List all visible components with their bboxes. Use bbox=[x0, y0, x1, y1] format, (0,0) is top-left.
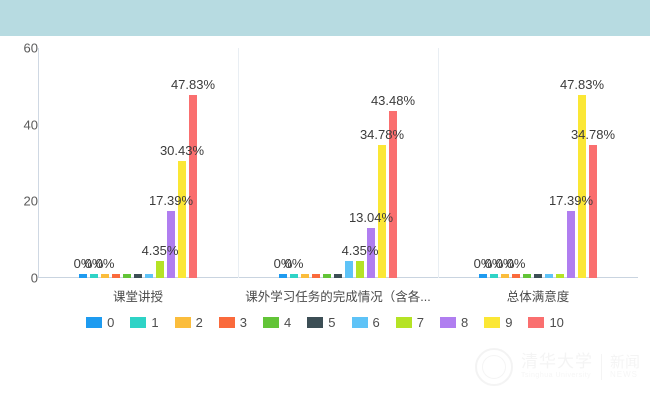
bar[interactable] bbox=[123, 274, 131, 278]
legend-label: 0 bbox=[107, 316, 114, 329]
bar[interactable] bbox=[156, 261, 164, 278]
legend-item[interactable]: 4 bbox=[263, 316, 291, 329]
y-axis-tick-label: 20 bbox=[0, 195, 38, 208]
watermark-university-en: Tsinghua University bbox=[521, 372, 593, 380]
watermark: 清华大学 Tsinghua University 新闻 NEWS bbox=[475, 348, 640, 386]
legend-label: 2 bbox=[196, 316, 203, 329]
legend-swatch-icon bbox=[219, 317, 235, 328]
bar[interactable] bbox=[112, 274, 120, 278]
bar[interactable] bbox=[301, 274, 309, 278]
bar[interactable] bbox=[578, 95, 586, 278]
x-axis-category-label: 总体满意度 bbox=[507, 286, 570, 305]
bar-value-label: 0% bbox=[285, 257, 304, 270]
legend-label: 8 bbox=[461, 316, 468, 329]
bar[interactable] bbox=[290, 274, 298, 278]
bar[interactable] bbox=[189, 95, 197, 278]
bar-value-label: 47.83% bbox=[560, 78, 604, 91]
watermark-news-cn: 新闻 bbox=[610, 355, 640, 371]
bar-group bbox=[279, 48, 397, 278]
legend-item[interactable]: 0 bbox=[86, 316, 114, 329]
bar[interactable] bbox=[312, 274, 320, 278]
legend-swatch-icon bbox=[130, 317, 146, 328]
legend-item[interactable]: 7 bbox=[396, 316, 424, 329]
tsinghua-seal-icon bbox=[475, 348, 513, 386]
legend-item[interactable]: 6 bbox=[352, 316, 380, 329]
legend-item[interactable]: 1 bbox=[130, 316, 158, 329]
legend-swatch-icon bbox=[396, 317, 412, 328]
legend-swatch-icon bbox=[528, 317, 544, 328]
y-axis-line bbox=[38, 48, 39, 278]
legend-swatch-icon bbox=[86, 317, 102, 328]
legend-label: 3 bbox=[240, 316, 247, 329]
bar-value-label: 34.78% bbox=[360, 128, 404, 141]
bar-value-label: 13.04% bbox=[349, 211, 393, 224]
legend-label: 7 bbox=[417, 316, 424, 329]
legend-swatch-icon bbox=[175, 317, 191, 328]
bar-value-label: 17.39% bbox=[549, 194, 593, 207]
legend-label: 6 bbox=[373, 316, 380, 329]
bar-value-label: 30.43% bbox=[160, 144, 204, 157]
bar[interactable] bbox=[556, 274, 564, 278]
bar[interactable] bbox=[145, 274, 153, 278]
legend-swatch-icon bbox=[307, 317, 323, 328]
bar-value-label: 43.48% bbox=[371, 94, 415, 107]
legend-item[interactable]: 3 bbox=[219, 316, 247, 329]
legend-label: 10 bbox=[549, 316, 563, 329]
bar[interactable] bbox=[356, 261, 364, 278]
bar[interactable] bbox=[490, 274, 498, 278]
group-separator bbox=[438, 48, 439, 278]
bar[interactable] bbox=[501, 274, 509, 278]
chart-container: 0204060 0%0%0%4.35%17.39%30.43%47.83%0%0… bbox=[0, 0, 650, 400]
legend-swatch-icon bbox=[440, 317, 456, 328]
legend-item[interactable]: 8 bbox=[440, 316, 468, 329]
bar-value-label: 0% bbox=[507, 257, 526, 270]
legend-label: 5 bbox=[328, 316, 335, 329]
bar[interactable] bbox=[79, 274, 87, 278]
chart-legend[interactable]: 012345678910 bbox=[0, 316, 650, 329]
bar[interactable] bbox=[589, 145, 597, 278]
legend-swatch-icon bbox=[484, 317, 500, 328]
bar-value-label: 4.35% bbox=[142, 244, 179, 257]
bar-group-bars bbox=[279, 48, 397, 278]
bar[interactable] bbox=[512, 274, 520, 278]
legend-item[interactable]: 5 bbox=[307, 316, 335, 329]
watermark-news: 新闻 NEWS bbox=[610, 355, 640, 380]
x-axis-category-label: 课堂讲授 bbox=[113, 286, 163, 305]
bar[interactable] bbox=[323, 274, 331, 278]
watermark-news-en: NEWS bbox=[610, 370, 640, 379]
bar[interactable] bbox=[279, 274, 287, 278]
bar[interactable] bbox=[90, 274, 98, 278]
watermark-university-cn: 清华大学 bbox=[521, 354, 593, 372]
legend-item[interactable]: 9 bbox=[484, 316, 512, 329]
legend-label: 4 bbox=[284, 316, 291, 329]
legend-label: 9 bbox=[505, 316, 512, 329]
legend-swatch-icon bbox=[352, 317, 368, 328]
bar-value-label: 17.39% bbox=[149, 194, 193, 207]
legend-swatch-icon bbox=[263, 317, 279, 328]
bar[interactable] bbox=[479, 274, 487, 278]
bar[interactable] bbox=[567, 211, 575, 278]
y-axis-tick-label: 0 bbox=[0, 272, 38, 285]
bar[interactable] bbox=[134, 274, 142, 278]
bar-value-label: 0% bbox=[96, 257, 115, 270]
bar-value-label: 4.35% bbox=[342, 244, 379, 257]
legend-item[interactable]: 2 bbox=[175, 316, 203, 329]
bar[interactable] bbox=[345, 261, 353, 278]
bar-value-label: 34.78% bbox=[571, 128, 615, 141]
watermark-divider bbox=[601, 354, 602, 380]
y-axis-tick-label: 60 bbox=[0, 42, 38, 55]
top-decorative-band bbox=[0, 0, 650, 36]
bar[interactable] bbox=[178, 161, 186, 278]
bar-value-label: 47.83% bbox=[171, 78, 215, 91]
bar[interactable] bbox=[101, 274, 109, 278]
y-axis-tick-label: 40 bbox=[0, 118, 38, 131]
legend-label: 1 bbox=[151, 316, 158, 329]
bar[interactable] bbox=[523, 274, 531, 278]
group-separator bbox=[238, 48, 239, 278]
bar[interactable] bbox=[534, 274, 542, 278]
bar[interactable] bbox=[545, 274, 553, 278]
x-axis-category-label: 课外学习任务的完成情况（含各... bbox=[245, 286, 430, 305]
bar[interactable] bbox=[334, 274, 342, 278]
legend-item[interactable]: 10 bbox=[528, 316, 563, 329]
watermark-university: 清华大学 Tsinghua University bbox=[521, 354, 593, 380]
